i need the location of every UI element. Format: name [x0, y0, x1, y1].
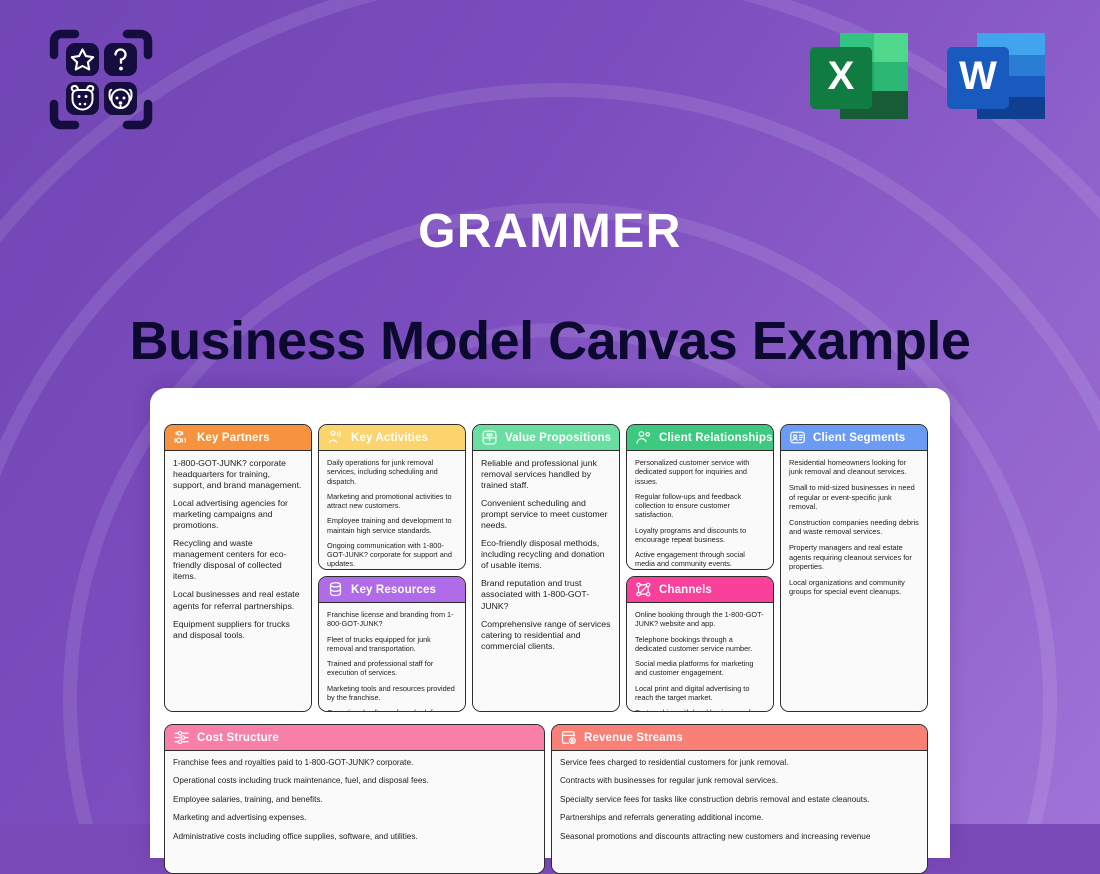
block-title: Cost Structure — [197, 732, 279, 744]
block-item: Marketing and advertising expenses. — [173, 813, 536, 823]
block-item: Active engagement through social media a… — [635, 550, 765, 569]
canvas-block-key-activities[interactable]: Key Activities Daily operations for junk… — [318, 424, 466, 570]
block-header-revenue-streams: Revenue Streams — [552, 725, 927, 751]
canvas-block-key-resources[interactable]: Key Resources Franchise license and bran… — [318, 576, 466, 712]
block-title: Key Activities — [351, 432, 428, 444]
logo-tile-dog — [104, 82, 137, 115]
block-item: Personalized customer service with dedic… — [635, 458, 765, 486]
block-item: Operational software for scheduling, rou… — [327, 708, 457, 711]
page-title: Business Model Canvas Example — [0, 310, 1100, 372]
invoice-money-icon — [560, 729, 577, 746]
block-body: 1-800-GOT-JUNK? corporate headquarters f… — [165, 451, 311, 711]
block-title: Client Segments — [813, 432, 905, 444]
logo-tile-cow — [66, 82, 99, 115]
block-item: Reliable and professional junk removal s… — [481, 458, 611, 491]
business-model-canvas-panel: Key Partners 1-800-GOT-JUNK? corporate h… — [150, 388, 950, 858]
block-header-cost-structure: Cost Structure — [165, 725, 544, 751]
block-item: Online booking through the 1-800-GOT-JUN… — [635, 610, 765, 629]
block-item: Local organizations and community groups… — [789, 578, 919, 597]
block-body: Personalized customer service with dedic… — [627, 451, 773, 569]
user-settings-icon — [635, 429, 652, 446]
block-item: Regular follow-ups and feedback collecti… — [635, 492, 765, 520]
block-item: Comprehensive range of services catering… — [481, 619, 611, 652]
block-item: Contracts with businesses for regular ju… — [560, 776, 919, 786]
block-header-channels: Channels — [627, 577, 773, 603]
block-item: Specialty service fees for tasks like co… — [560, 795, 919, 805]
svg-text:W: W — [959, 54, 997, 98]
gift-box-icon — [481, 429, 498, 446]
block-item: Franchise fees and royalties paid to 1-8… — [173, 758, 536, 768]
block-title: Key Partners — [197, 432, 270, 444]
block-item: Ongoing communication with 1-800-GOT-JUN… — [327, 541, 457, 569]
block-title: Client Relationships — [659, 432, 773, 444]
block-body: Online booking through the 1-800-GOT-JUN… — [627, 603, 773, 711]
block-body: Residential homeowners looking for junk … — [781, 451, 927, 711]
block-item: Partnerships and referrals generating ad… — [560, 813, 919, 823]
block-item: Local advertising agencies for marketing… — [173, 498, 303, 531]
block-item: Equipment suppliers for trucks and dispo… — [173, 619, 303, 641]
block-item: Employee training and development to mai… — [327, 516, 457, 535]
block-item: Telephone bookings through a dedicated c… — [635, 635, 765, 654]
block-item: Fleet of trucks equipped for junk remova… — [327, 635, 457, 654]
microsoft-word-icon[interactable]: W — [945, 28, 1050, 124]
canvas-block-value-propositions[interactable]: Value Propositions Reliable and professi… — [472, 424, 620, 712]
block-item: Trained and professional staff for execu… — [327, 659, 457, 678]
block-body: Franchise license and branding from 1-80… — [319, 603, 465, 711]
block-item: Social media platforms for marketing and… — [635, 659, 765, 678]
block-body: Service fees charged to residential cust… — [552, 751, 927, 873]
block-body: Franchise fees and royalties paid to 1-8… — [165, 751, 544, 873]
canvas-block-client-segments[interactable]: Client Segments Residential homeowners l… — [780, 424, 928, 712]
activity-person-icon — [327, 429, 344, 446]
partners-icon — [173, 429, 190, 446]
block-body: Daily operations for junk removal servic… — [319, 451, 465, 569]
database-icon — [327, 581, 344, 598]
id-card-icon — [789, 429, 806, 446]
grammer-logo[interactable] — [47, 27, 155, 132]
network-nodes-icon — [635, 581, 652, 598]
block-header-value-propositions: Value Propositions — [473, 425, 619, 451]
logo-tile-question — [104, 43, 137, 76]
block-header-client-relationships: Client Relationships — [627, 425, 773, 451]
canvas-block-client-relationships[interactable]: Client Relationships Personalized custom… — [626, 424, 774, 570]
block-item: Small to mid-sized businesses in need of… — [789, 483, 919, 511]
block-item: Construction companies needing debris an… — [789, 518, 919, 537]
block-header-key-activities: Key Activities — [319, 425, 465, 451]
block-item: Marketing and promotional activities to … — [327, 492, 457, 511]
canvas-block-key-partners[interactable]: Key Partners 1-800-GOT-JUNK? corporate h… — [164, 424, 312, 712]
block-item: 1-800-GOT-JUNK? corporate headquarters f… — [173, 458, 303, 491]
block-item: Brand reputation and trust associated wi… — [481, 578, 611, 611]
block-item: Eco-friendly disposal methods, including… — [481, 538, 611, 571]
block-item: Local print and digital advertising to r… — [635, 684, 765, 703]
block-title: Value Propositions — [505, 432, 611, 444]
block-header-client-segments: Client Segments — [781, 425, 927, 451]
block-item: Property managers and real estate agents… — [789, 543, 919, 571]
block-item: Operational costs including truck mainte… — [173, 776, 536, 786]
block-item: Residential homeowners looking for junk … — [789, 458, 919, 477]
block-title: Channels — [659, 584, 712, 596]
block-item: Administrative costs including office su… — [173, 832, 536, 842]
brand-name: GRAMMER — [0, 204, 1100, 259]
block-item: Service fees charged to residential cust… — [560, 758, 919, 768]
block-title: Revenue Streams — [584, 732, 683, 744]
block-title: Key Resources — [351, 584, 436, 596]
block-item: Daily operations for junk removal servic… — [327, 458, 457, 486]
block-item: Franchise license and branding from 1-80… — [327, 610, 457, 629]
block-header-key-partners: Key Partners — [165, 425, 311, 451]
block-item: Local businesses and real estate agents … — [173, 589, 303, 611]
block-header-key-resources: Key Resources — [319, 577, 465, 603]
canvas-grid: Key Partners 1-800-GOT-JUNK? corporate h… — [164, 402, 936, 858]
canvas-block-channels[interactable]: Channels Online booking through the 1-80… — [626, 576, 774, 712]
block-item: Partnerships with local businesses for c… — [635, 708, 765, 711]
canvas-block-cost-structure[interactable]: Cost Structure Franchise fees and royalt… — [164, 724, 545, 874]
block-item: Recycling and waste management centers f… — [173, 538, 303, 582]
svg-text:X: X — [828, 54, 855, 98]
canvas-block-revenue-streams[interactable]: Revenue Streams Service fees charged to … — [551, 724, 928, 874]
block-item: Seasonal promotions and discounts attrac… — [560, 832, 919, 842]
sliders-icon — [173, 729, 190, 746]
block-item: Loyalty programs and discounts to encour… — [635, 526, 765, 545]
block-item: Convenient scheduling and prompt service… — [481, 498, 611, 531]
block-item: Employee salaries, training, and benefit… — [173, 795, 536, 805]
office-app-icons: X W — [808, 28, 1050, 124]
block-body: Reliable and professional junk removal s… — [473, 451, 619, 711]
logo-tile-star — [66, 43, 99, 76]
microsoft-excel-icon[interactable]: X — [808, 28, 913, 124]
block-item: Marketing tools and resources provided b… — [327, 684, 457, 703]
